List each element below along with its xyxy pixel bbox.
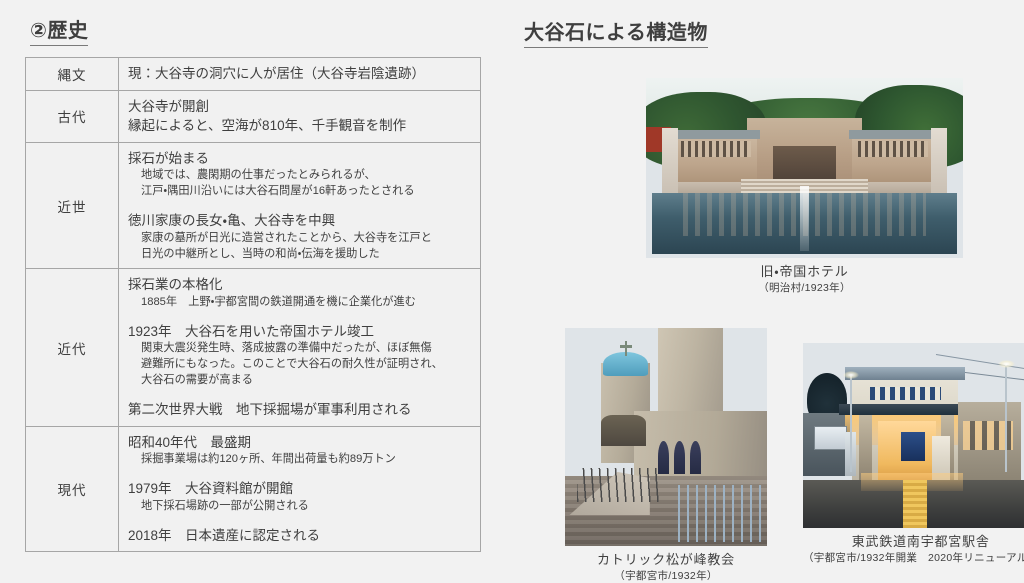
entry-block: 2018年 日本遺産に認定される — [128, 526, 474, 546]
arched-window — [674, 441, 685, 474]
stone-pillar-left — [859, 415, 872, 480]
street-lamp-left — [850, 376, 852, 472]
entry-sub: 関東大震災発生時、落成披露の準備中だったが、ほぼ無傷 — [141, 341, 474, 357]
entrance-arcade — [601, 415, 645, 446]
era-content: 大谷寺が開創 縁起によると、空海が810年、千手観音を制作 — [119, 90, 481, 142]
entry-block: 1923年 大谷石を用いた帝国ホテル竣工 関東大震災発生時、落成披露の準備中だっ… — [128, 322, 474, 389]
entry-main: 採石業の本格化 — [128, 275, 474, 295]
history-table: 縄文 現：大谷寺の洞穴に人が居住（大谷寺岩陰遺跡） 古代 大谷寺が開創 縁起によ… — [25, 57, 481, 552]
page-title-structures: 大谷石による構造物 — [524, 16, 708, 48]
era-label: 近代 — [26, 269, 119, 426]
photo-imperial-hotel — [646, 78, 963, 258]
table-row: 近代 採石業の本格化 1885年 上野・宇都宮間の鉄道開通を機に企業化が進む 1… — [26, 269, 481, 426]
figure-caption: カトリック松が峰教会 （宇都宮市/1932年） — [565, 552, 767, 583]
station-right-wing — [958, 402, 1020, 480]
cross-icon — [625, 341, 628, 356]
figure-church: カトリック松が峰教会 （宇都宮市/1932年） — [565, 328, 767, 583]
history-heading-text: ②歴史 — [30, 14, 88, 46]
entry-main: 大谷寺が開創 — [128, 97, 474, 117]
fountain — [800, 186, 810, 251]
colonnade-right — [858, 141, 928, 157]
entry-block: 徳川家康の長女・亀、大谷寺を中興 家康の墓所が日光に造営されたことから、大谷寺を… — [128, 211, 474, 262]
entry-main: 2018年 日本遺産に認定される — [128, 526, 474, 546]
entry-block: 1979年 大谷資料館が開館 地下採石場跡の一部が公開される — [128, 479, 474, 514]
entry-sub: 大谷石の需要が高まる — [141, 373, 474, 389]
caption-title: カトリック松が峰教会 — [565, 552, 767, 569]
entry-block: 昭和40年代 最盛期 採掘事業場は約120ヶ所、年間出荷量も約89万トン — [128, 433, 474, 468]
era-content: 採石業の本格化 1885年 上野・宇都宮間の鉄道開通を機に企業化が進む 1923… — [119, 269, 481, 426]
entry-sub: 採掘事業場は約120ヶ所、年間出荷量も約89万トン — [141, 452, 474, 468]
roof-left — [671, 130, 760, 139]
entry-main: 縁起によると、空海が810年、千手観音を制作 — [128, 116, 474, 136]
iron-fence — [678, 485, 763, 542]
caption-subtitle: （明治村/1923年） — [646, 281, 963, 295]
era-content: 現：大谷寺の洞穴に人が居住（大谷寺岩陰遺跡） — [119, 58, 481, 91]
slide-root: ②歴史 縄文 現：大谷寺の洞穴に人が居住（大谷寺岩陰遺跡） 古代 大谷寺が開創 — [0, 0, 1024, 576]
figure-caption: 旧・帝国ホテル （明治村/1923年） — [646, 264, 963, 295]
entry-sub: 避難所にもなった。このことで大谷石の耐久性が証明され、 — [141, 357, 474, 373]
era-label: 古代 — [26, 90, 119, 142]
entry-main: 採石が始まる — [128, 149, 474, 169]
entry-block: 採石業の本格化 1885年 上野・宇都宮間の鉄道開通を機に企業化が進む — [128, 275, 474, 310]
figure-station: 東武鉄道南宇都宮駅舎 （宇都宮市/1932年開業 2020年リニューアル） — [803, 343, 1024, 565]
structures-heading-text: 大谷石による構造物 — [524, 16, 708, 48]
entry-sub: 家康の墓所が日光に造営されたことから、大谷寺を江戸と — [141, 231, 474, 247]
caption-title: 東武鉄道南宇都宮駅舎 — [803, 534, 1024, 551]
entry-main: 1979年 大谷資料館が開館 — [128, 479, 474, 499]
entry-block: 現：大谷寺の洞穴に人が居住（大谷寺岩陰遺跡） — [128, 64, 474, 84]
entry-main: 1923年 大谷石を用いた帝国ホテル竣工 — [128, 322, 474, 342]
arched-window — [690, 441, 701, 474]
upper-window-row — [870, 387, 941, 400]
photo-church — [565, 328, 767, 546]
entry-sub: 1885年 上野・宇都宮間の鉄道開通を機に企業化が進む — [141, 295, 474, 311]
entry-sub: 江戸・隅田川沿いには大谷石問屋が16軒あったとされる — [141, 184, 474, 200]
entry-block: 採石が始まる 地域では、農閑期の仕事だったとみられるが、 江戸・隅田川沿いには大… — [128, 149, 474, 200]
era-label: 現代 — [26, 426, 119, 552]
entry-sub: 地下採石場跡の一部が公開される — [141, 499, 474, 515]
photo-station — [803, 343, 1024, 528]
stair-railing — [577, 468, 662, 503]
colonnade-left — [681, 141, 751, 157]
table-row: 現代 昭和40年代 最盛期 採掘事業場は約120ヶ所、年間出荷量も約89万トン … — [26, 426, 481, 552]
history-table-body: 縄文 現：大谷寺の洞穴に人が居住（大谷寺岩陰遺跡） 古代 大谷寺が開創 縁起によ… — [26, 58, 481, 552]
era-label: 縄文 — [26, 58, 119, 91]
entry-main: 徳川家康の長女・亀、大谷寺を中興 — [128, 211, 474, 231]
poster-board — [901, 432, 925, 462]
building-center — [747, 118, 861, 186]
table-row: 古代 大谷寺が開創 縁起によると、空海が810年、千手観音を制作 — [26, 90, 481, 142]
figure-caption: 東武鉄道南宇都宮駅舎 （宇都宮市/1932年開業 2020年リニューアル） — [803, 534, 1024, 565]
page-title-history: ②歴史 — [30, 14, 88, 46]
entrance-canopy — [839, 404, 977, 415]
table-row: 縄文 現：大谷寺の洞穴に人が居住（大谷寺岩陰遺跡） — [26, 58, 481, 91]
era-content: 昭和40年代 最盛期 採掘事業場は約120ヶ所、年間出荷量も約89万トン 197… — [119, 426, 481, 552]
entry-main: 第二次世界大戦 地下採掘場が軍事利用される — [128, 400, 474, 420]
figure-imperial-hotel: 旧・帝国ホテル （明治村/1923年） — [646, 78, 963, 295]
table-row: 近世 採石が始まる 地域では、農閑期の仕事だったとみられるが、 江戸・隅田川沿い… — [26, 142, 481, 269]
entry-block: 第二次世界大戦 地下採掘場が軍事利用される — [128, 400, 474, 420]
street-lamp-right — [1005, 365, 1007, 472]
entry-sub: 地域では、農閑期の仕事だったとみられるが、 — [141, 168, 474, 184]
entry-main: 現：大谷寺の洞穴に人が居住（大谷寺岩陰遺跡） — [128, 64, 474, 84]
information-signboard — [814, 426, 847, 450]
entry-sub: 日光の中継所とし、当時の和尚・伝海を援助した — [141, 247, 474, 263]
era-content: 採石が始まる 地域では、農閑期の仕事だったとみられるが、 江戸・隅田川沿いには大… — [119, 142, 481, 269]
caption-title: 旧・帝国ホテル — [646, 264, 963, 281]
entry-block: 大谷寺が開創 縁起によると、空海が810年、千手観音を制作 — [128, 97, 474, 136]
caption-subtitle: （宇都宮市/1932年開業 2020年リニューアル） — [803, 551, 1024, 565]
roof-right — [849, 130, 938, 139]
tactile-paving — [903, 480, 927, 528]
era-label: 近世 — [26, 142, 119, 269]
entry-main: 昭和40年代 最盛期 — [128, 433, 474, 453]
station-roof — [845, 367, 965, 380]
